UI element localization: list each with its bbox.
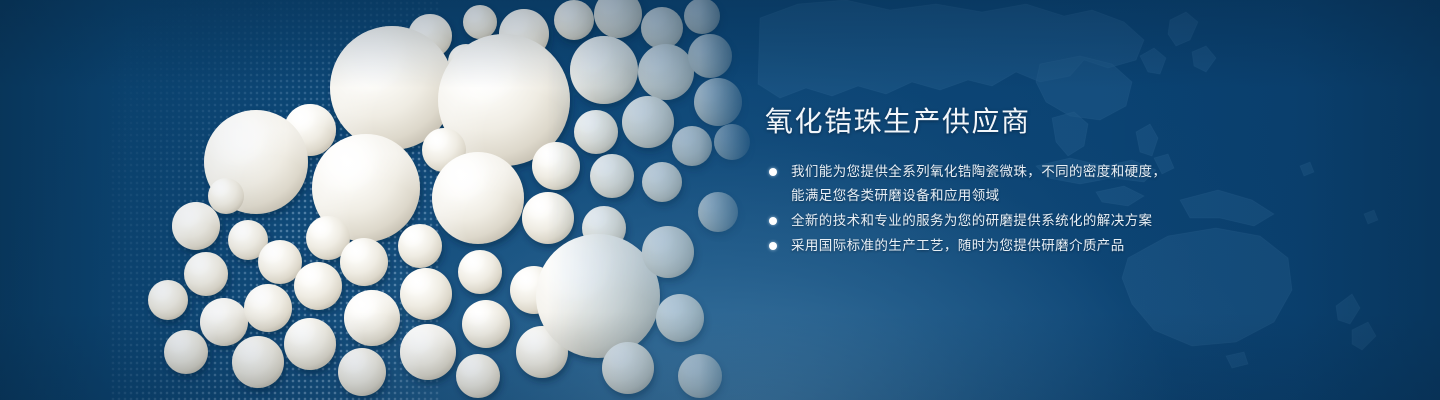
banner-headline: 氧化锆珠生产供应商	[765, 104, 1385, 140]
feature-bullet-item: 全新的技术和专业的服务为您的研磨提供系统化的解决方案	[765, 209, 1385, 233]
bullet-line: 全新的技术和专业的服务为您的研磨提供系统化的解决方案	[791, 209, 1385, 233]
banner-copy: 氧化锆珠生产供应商 我们能为您提供全系列氧化锆陶瓷微珠，不同的密度和硬度， 能满…	[765, 104, 1385, 259]
bullet-line: 采用国际标准的生产工艺，随时为您提供研磨介质产品	[791, 234, 1385, 258]
feature-bullet-item: 我们能为您提供全系列氧化锆陶瓷微珠，不同的密度和硬度， 能满足您各类研磨设备和应…	[765, 160, 1385, 208]
hero-banner: 氧化锆珠生产供应商 我们能为您提供全系列氧化锆陶瓷微珠，不同的密度和硬度， 能满…	[0, 0, 1440, 400]
bullet-line: 我们能为您提供全系列氧化锆陶瓷微珠，不同的密度和硬度，	[791, 160, 1385, 184]
bullet-line: 能满足您各类研磨设备和应用领域	[791, 184, 1385, 208]
feature-bullet-list: 我们能为您提供全系列氧化锆陶瓷微珠，不同的密度和硬度， 能满足您各类研磨设备和应…	[765, 160, 1385, 258]
feature-bullet-item: 采用国际标准的生产工艺，随时为您提供研磨介质产品	[765, 234, 1385, 258]
